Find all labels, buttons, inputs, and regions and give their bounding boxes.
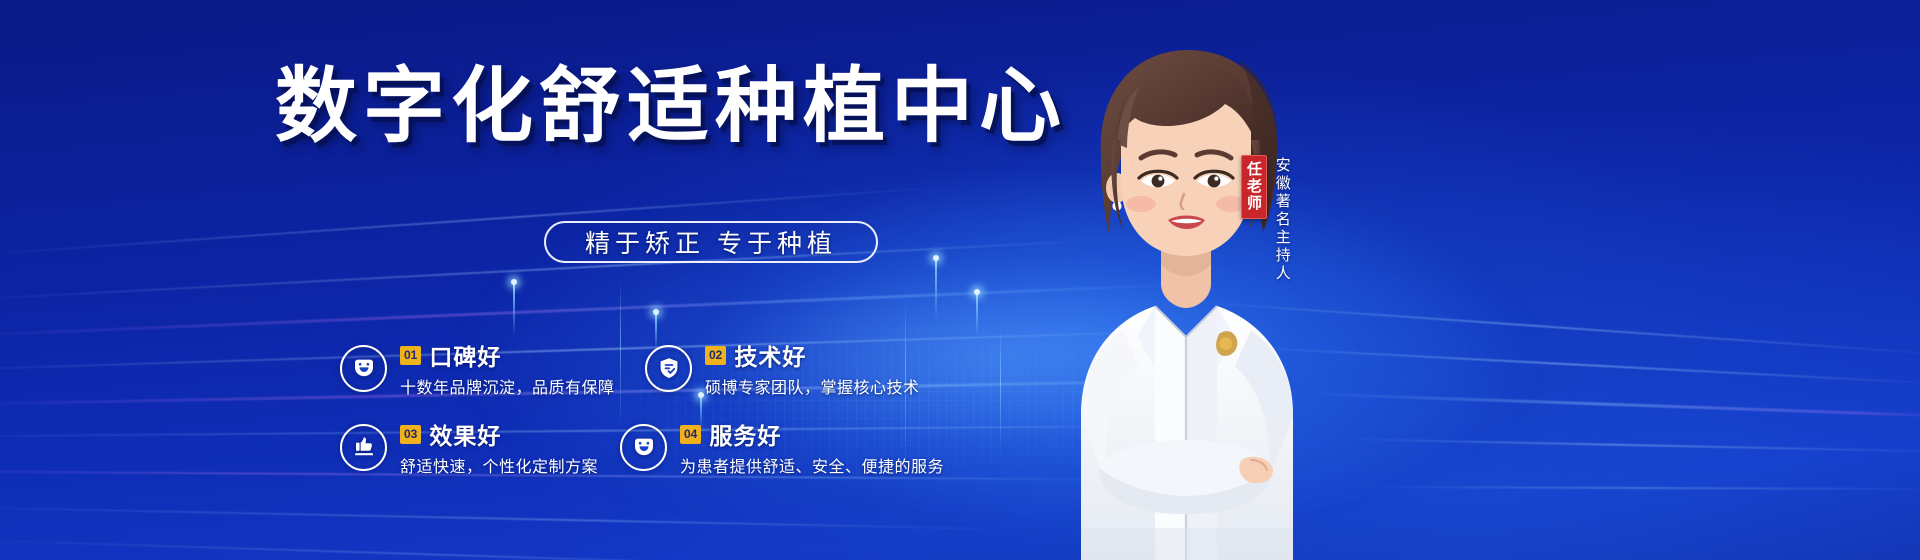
page-title: 数字化舒适种植中心 bbox=[275, 66, 995, 148]
smile-face-icon bbox=[340, 345, 387, 392]
promo-banner: 数字化舒适种植中心 精于矫正 专于种植 01 口碑好 十数年品牌沉淀，品质有 bbox=[0, 0, 1920, 560]
feature-number: 03 bbox=[400, 425, 421, 444]
feature-description: 舒适快速，个性化定制方案 bbox=[400, 453, 598, 477]
subtitle-pill: 精于矫正 专于种植 bbox=[544, 221, 878, 263]
shield-check-icon bbox=[645, 345, 692, 392]
feature-description: 十数年品牌沉淀，品质有保障 bbox=[400, 374, 615, 398]
feature-title: 服务好 bbox=[709, 417, 781, 451]
feature-description: 为患者提供舒适、安全、便捷的服务 bbox=[680, 453, 944, 477]
host-title-vertical: 安徽著名主持人 bbox=[1271, 155, 1293, 283]
thumbs-up-icon bbox=[340, 424, 387, 471]
host-illustration bbox=[1005, 36, 1365, 560]
feature-item-3: 03 效果好 舒适快速，个性化定制方案 bbox=[340, 417, 598, 477]
feature-item-4: 04 服务好 为患者提供舒适、安全、便捷的服务 bbox=[620, 417, 944, 477]
host-seal-stamp: 任老师 bbox=[1241, 155, 1267, 219]
host-credential-block: 任老师 安徽著名主持人 bbox=[1241, 155, 1309, 283]
smile-face-icon bbox=[620, 424, 667, 471]
feature-number: 04 bbox=[680, 425, 701, 444]
feature-title: 口碑好 bbox=[429, 338, 501, 372]
feature-number: 02 bbox=[705, 346, 726, 365]
feature-title: 技术好 bbox=[734, 338, 806, 372]
subtitle-text: 精于矫正 专于种植 bbox=[585, 224, 837, 260]
feature-item-1: 01 口碑好 十数年品牌沉淀，品质有保障 bbox=[340, 338, 615, 398]
feature-item-2: 02 技术好 硕博专家团队，掌握核心技术 bbox=[645, 338, 920, 398]
feature-description: 硕博专家团队，掌握核心技术 bbox=[705, 374, 920, 398]
feature-title: 效果好 bbox=[429, 417, 501, 451]
feature-number: 01 bbox=[400, 346, 421, 365]
